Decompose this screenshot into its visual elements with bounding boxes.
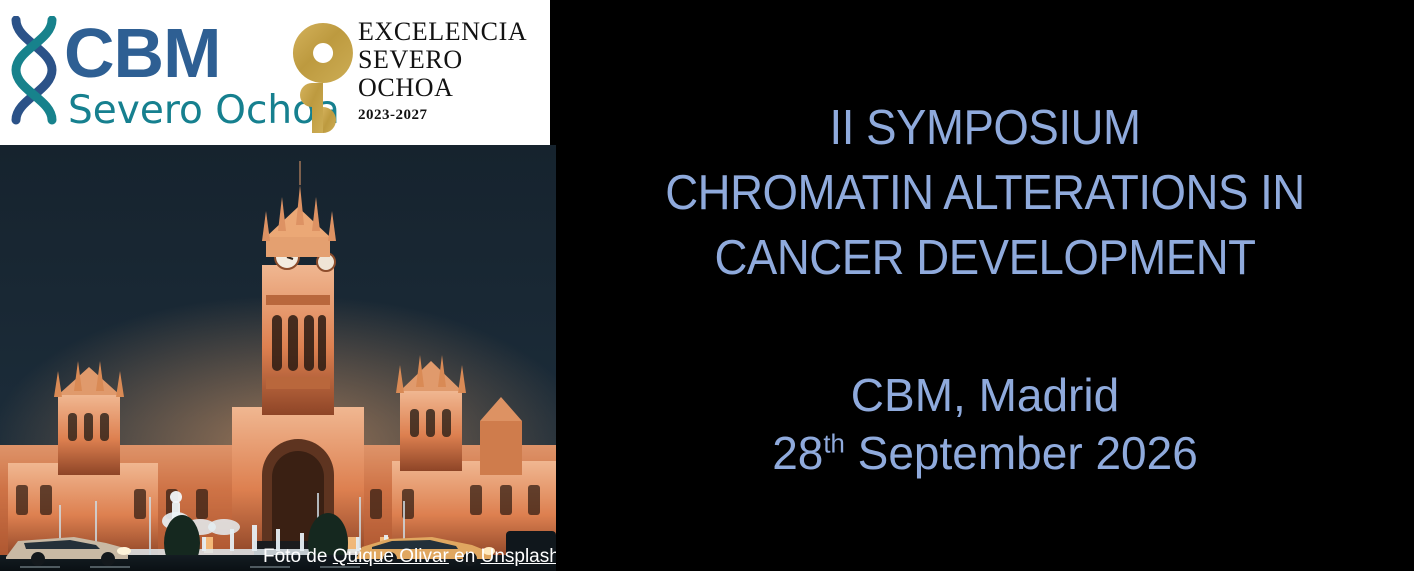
- dna-double-helix-icon: [6, 16, 62, 132]
- cbm-wordmark: CBM: [64, 17, 220, 89]
- gold-key-seal-icon: [290, 21, 354, 135]
- credit-source-link[interactable]: Unsplash: [481, 546, 556, 567]
- event-title: II SYMPOSIUM CHROMATIN ALTERATIONS IN CA…: [586, 96, 1384, 291]
- event-date: 28th September 2026: [556, 424, 1414, 482]
- excelencia-text-block: EXCELENCIA SEVERO OCHOA 2023-2027: [358, 18, 528, 125]
- credit-author-link[interactable]: Quique Olivar: [333, 546, 449, 567]
- photo-illustration: [0, 145, 556, 571]
- event-title-line-3: CANCER DEVELOPMENT: [586, 226, 1384, 291]
- credit-prefix: Foto de: [263, 546, 333, 567]
- eso-line-2: SEVERO: [358, 46, 528, 74]
- event-date-rest: September 2026: [845, 427, 1198, 479]
- logo-band: CBM Severo Ochoa: [0, 0, 550, 145]
- symposium-announcement-slide: CBM Severo Ochoa: [0, 0, 1414, 571]
- cbm-severo-ochoa-logo: CBM Severo Ochoa: [6, 16, 288, 134]
- left-column: CBM Severo Ochoa: [0, 0, 556, 571]
- credit-middle: en: [449, 546, 481, 567]
- right-column: II SYMPOSIUM CHROMATIN ALTERATIONS IN CA…: [556, 0, 1414, 571]
- event-title-line-1: II SYMPOSIUM: [586, 96, 1384, 161]
- excelencia-severo-ochoa-logo: EXCELENCIA SEVERO OCHOA 2023-2027: [290, 18, 530, 136]
- eso-line-3: OCHOA: [358, 74, 528, 102]
- photo-credit: Foto de Quique Olivar en Unsplash: [263, 546, 556, 568]
- event-venue: CBM, Madrid: [556, 366, 1414, 424]
- event-title-line-2: CHROMATIN ALTERATIONS IN: [586, 161, 1384, 226]
- eso-years-range: 2023-2027: [358, 105, 528, 125]
- eso-line-1: EXCELENCIA: [358, 18, 528, 46]
- palacio-de-cibeles-photo: Foto de Quique Olivar en Unsplash: [0, 145, 556, 571]
- event-date-day: 28: [772, 427, 823, 479]
- event-date-ordinal: th: [823, 431, 844, 459]
